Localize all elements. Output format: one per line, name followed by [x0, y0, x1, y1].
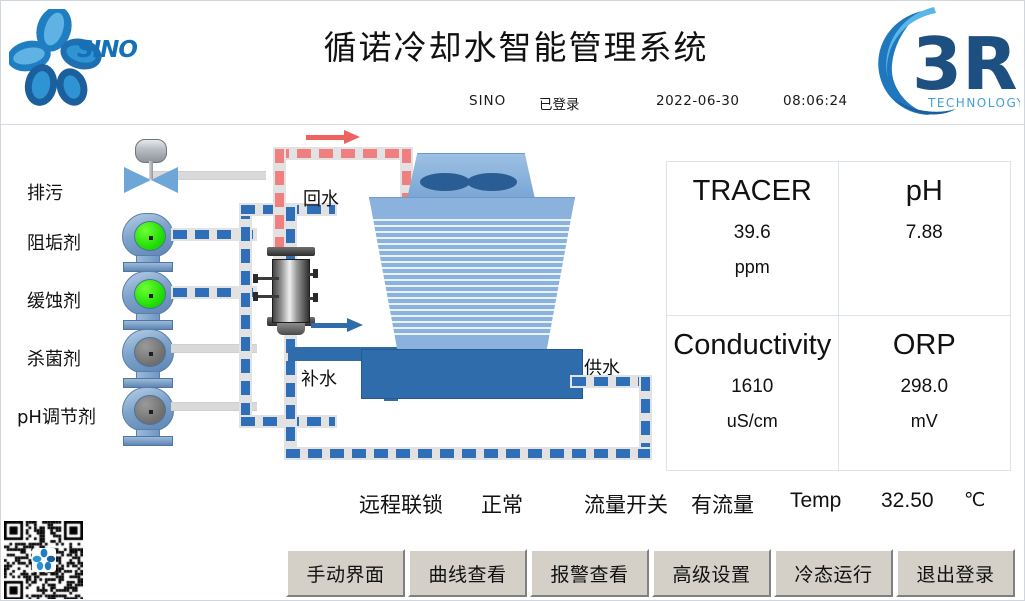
- valve-body-left: [124, 167, 151, 193]
- valve-actuator: [135, 139, 167, 163]
- readout-tile-conductivity: Conductivity 1610 uS/cm: [667, 316, 839, 470]
- qr-code-center-logo: [32, 548, 56, 572]
- analyzer-nut-left-upper: [253, 274, 258, 283]
- pump-ph-adjuster[interactable]: [120, 387, 176, 449]
- tile-unit: mV: [911, 411, 938, 432]
- supply-water-pipe-right: [641, 377, 650, 457]
- pump-scale-inhibitor[interactable]: [120, 213, 176, 275]
- pump-status-indicator: [134, 221, 166, 251]
- tile-unit: ppm: [735, 257, 770, 278]
- remote-interlock-value: 正常: [481, 489, 523, 519]
- trend-view-button[interactable]: 曲线查看: [408, 549, 527, 597]
- line-label-scale-inhibitor: 阻垢剂: [27, 229, 81, 255]
- analyzer-probe-left-lower: [255, 295, 279, 298]
- advanced-settings-button[interactable]: 高级设置: [652, 549, 771, 597]
- temperature-value: 32.50: [881, 489, 934, 513]
- return-water-pipe-left: [275, 149, 284, 259]
- manifold-pipe-left: [241, 205, 250, 426]
- analyzer-probe-left-upper: [255, 277, 279, 280]
- tile-name: Conductivity: [673, 330, 831, 362]
- makeup-water-label: 补水: [301, 365, 337, 391]
- line-label-blowdown: 排污: [27, 179, 63, 205]
- pump-corrosion-inhibitor[interactable]: [120, 271, 176, 333]
- tower-basin: [361, 349, 583, 399]
- valve-body-right: [151, 167, 178, 193]
- line-label-biocide: 杀菌剂: [27, 345, 81, 371]
- flow-switch-value: 有流量: [691, 489, 754, 519]
- tile-name: ORP: [893, 330, 956, 362]
- hmi-screen: SINO 循诺冷却水智能管理系统 SINO 已登录 2022-06-30 08:…: [0, 0, 1025, 601]
- flow-switch-label: 流量开关: [584, 489, 668, 519]
- pump-housing: [122, 213, 174, 257]
- analyzer-nut-left-lower: [253, 292, 258, 301]
- 3r-technology-logo-icon: 3R TECHNOLOGY: [860, 3, 1020, 121]
- supply-water-pipe-bottom: [286, 449, 650, 458]
- line-label-corrosion-inhibitor: 缓蚀剂: [27, 287, 81, 313]
- line-label-ph-adjuster: pH调节剂: [17, 403, 96, 429]
- svg-text:3R: 3R: [912, 22, 1018, 106]
- analyzer-nut-right-lower: [313, 293, 318, 302]
- pump-center-dot: [149, 294, 153, 298]
- readout-tile-orp: ORP 298.0 mV: [839, 316, 1011, 470]
- measurement-panel: TRACER 39.6 ppm pH 7.88 Conductivity 161…: [666, 161, 1011, 471]
- pump-biocide[interactable]: [120, 329, 176, 391]
- logout-button[interactable]: 退出登录: [896, 549, 1015, 597]
- remote-interlock-label: 远程联锁: [359, 489, 443, 519]
- analyzer-top-cap: [267, 247, 315, 256]
- temperature-label: Temp: [790, 489, 841, 513]
- pump-housing: [122, 329, 174, 373]
- return-water-label: 回水: [303, 185, 339, 211]
- command-button-bar: 手动界面 曲线查看 报警查看 高级设置 冷态运行 退出登录: [286, 549, 1015, 597]
- pump-housing: [122, 271, 174, 315]
- login-status: 已登录: [539, 93, 580, 113]
- header-bar: SINO 循诺冷却水智能管理系统 SINO 已登录 2022-06-30 08:…: [1, 1, 1025, 125]
- tile-value: 7.88: [906, 222, 943, 244]
- alarm-view-button[interactable]: 报警查看: [530, 549, 649, 597]
- pump-center-dot: [149, 352, 153, 356]
- tile-value: 39.6: [734, 222, 771, 244]
- readout-tile-ph: pH 7.88: [839, 162, 1011, 316]
- logged-in-user: SINO: [469, 93, 506, 109]
- process-diagram: 排污 阻垢剂 缓蚀剂 杀菌剂 pH调节剂: [1, 125, 661, 485]
- tower-fan-blade-right: [467, 173, 517, 191]
- tower-fill-media: [369, 219, 575, 339]
- manual-interface-button[interactable]: 手动界面: [286, 549, 405, 597]
- pump-status-indicator: [134, 337, 166, 367]
- return-flow-arrow-icon: [306, 133, 361, 141]
- pump-center-dot: [149, 236, 153, 240]
- cooling-tower-icon: [341, 153, 641, 443]
- status-strip: 远程联锁 正常 流量开关 有流量 Temp 32.50 ℃: [1, 489, 1025, 531]
- analyzer-foot: [277, 323, 305, 335]
- pump-center-dot: [149, 410, 153, 414]
- tile-name: pH: [906, 176, 943, 208]
- pump-base: [123, 436, 173, 446]
- tower-fan-blade-left: [420, 173, 470, 191]
- qr-code[interactable]: [4, 521, 83, 599]
- tile-name: TRACER: [693, 176, 812, 208]
- cold-run-button[interactable]: 冷态运行: [774, 549, 893, 597]
- sino-wordmark: SINO: [77, 37, 137, 63]
- analyzer-nut-right-upper: [313, 269, 318, 278]
- analyzer-shell: [272, 259, 310, 323]
- tile-value: 298.0: [900, 376, 948, 398]
- blowdown-valve-icon[interactable]: [120, 139, 182, 191]
- qr-center-sino-icon: [32, 548, 56, 572]
- 3r-subtext: TECHNOLOGY: [927, 96, 1020, 110]
- tile-value: 1610: [731, 376, 773, 398]
- system-date: 2022-06-30: [656, 93, 739, 109]
- tile-unit: uS/cm: [727, 411, 778, 432]
- temperature-unit: ℃: [964, 489, 985, 511]
- page-title: 循诺冷却水智能管理系统: [251, 21, 781, 69]
- pump-status-indicator: [134, 395, 166, 425]
- readout-tile-tracer: TRACER 39.6 ppm: [667, 162, 839, 316]
- pump-status-indicator: [134, 279, 166, 309]
- system-time: 08:06:24: [783, 93, 848, 109]
- pump-housing: [122, 387, 174, 431]
